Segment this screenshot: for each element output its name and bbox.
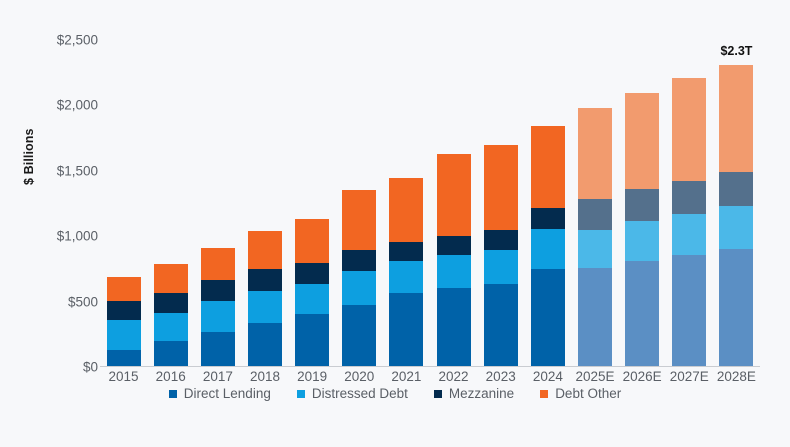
y-tick-label: $0 [20,360,98,375]
bar-segment-direct-lending[interactable] [672,255,706,366]
y-tick-label: $2,000 [20,98,98,113]
bar-segment-distressed-debt[interactable] [295,284,329,314]
bar-segment-distressed-debt[interactable] [531,229,565,269]
bar-segment-direct-lending[interactable] [625,261,659,366]
bar-2018[interactable] [248,231,282,366]
legend-label: Distressed Debt [312,386,408,401]
legend-swatch-icon [434,390,442,398]
bar-segment-mezzanine[interactable] [201,280,235,301]
bar-segment-mezzanine[interactable] [107,301,141,319]
bar-segment-mezzanine[interactable] [719,172,753,205]
y-tick-label: $2,500 [20,33,98,48]
bar-segment-debt-other[interactable] [625,93,659,190]
bar-segment-distressed-debt[interactable] [672,214,706,256]
bar-2027E[interactable] [672,78,706,366]
bar-segment-distressed-debt[interactable] [154,313,188,341]
bar-segment-direct-lending[interactable] [531,269,565,366]
legend-label: Debt Other [555,386,621,401]
bar-segment-distressed-debt[interactable] [201,301,235,332]
bar-2023[interactable] [484,145,518,366]
bar-segment-mezzanine[interactable] [437,236,471,255]
bar-segment-direct-lending[interactable] [437,288,471,366]
legend-swatch-icon [297,390,305,398]
bar-segment-direct-lending[interactable] [578,268,612,366]
bar-segment-direct-lending[interactable] [248,323,282,366]
bar-2028E[interactable]: $2.3T [719,65,753,366]
bar-segment-mezzanine[interactable] [578,199,612,230]
bar-2015[interactable] [107,277,141,366]
bar-segment-distressed-debt[interactable] [578,230,612,268]
bar-segment-debt-other[interactable] [531,126,565,208]
bar-segment-mezzanine[interactable] [672,181,706,214]
legend-label: Mezzanine [449,386,514,401]
y-tick-label: $500 [20,294,98,309]
bar-segment-distressed-debt[interactable] [437,255,471,288]
bar-segment-direct-lending[interactable] [719,249,753,366]
legend-item-debt-other[interactable]: Debt Other [540,386,621,401]
bar-segment-debt-other[interactable] [154,264,188,293]
bar-segment-debt-other[interactable] [295,219,329,263]
bar-segment-debt-other[interactable] [107,277,141,301]
bar-segment-mezzanine[interactable] [484,230,518,250]
legend-label: Direct Lending [184,386,271,401]
bar-segment-debt-other[interactable] [719,65,753,172]
legend-swatch-icon [540,390,548,398]
bar-segment-distressed-debt[interactable] [107,320,141,351]
bar-segment-debt-other[interactable] [389,178,423,242]
bar-segment-mezzanine[interactable] [625,189,659,221]
bar-2020[interactable] [342,190,376,366]
bar-segment-debt-other[interactable] [342,190,376,250]
x-tick-label-2028E: 2028E [708,369,764,384]
stacked-bar-chart: $ Billions $0$500$1,000$1,500$2,000$2,50… [0,0,790,447]
legend-item-distressed-debt[interactable]: Distressed Debt [297,386,408,401]
bar-segment-debt-other[interactable] [672,78,706,181]
bar-segment-debt-other[interactable] [437,154,471,236]
bar-segment-distressed-debt[interactable] [248,291,282,322]
bar-segment-distressed-debt[interactable] [342,271,376,304]
bar-2017[interactable] [201,248,235,366]
bar-segment-debt-other[interactable] [248,231,282,269]
bar-segment-mezzanine[interactable] [389,242,423,262]
bar-segment-direct-lending[interactable] [201,332,235,366]
legend-swatch-icon [169,390,177,398]
x-axis-line [100,366,760,367]
bar-segment-mezzanine[interactable] [248,269,282,291]
bar-segment-direct-lending[interactable] [484,284,518,366]
y-tick-label: $1,500 [20,163,98,178]
bar-segment-debt-other[interactable] [484,145,518,230]
chart-legend: Direct LendingDistressed DebtMezzanineDe… [0,386,790,401]
bar-segment-direct-lending[interactable] [342,305,376,366]
bar-2026E[interactable] [625,93,659,366]
bar-segment-direct-lending[interactable] [107,350,141,366]
y-axis-tick-labels: $0$500$1,000$1,500$2,000$2,500 [10,0,98,447]
bar-segment-distressed-debt[interactable] [625,221,659,261]
bar-segment-direct-lending[interactable] [389,293,423,366]
bar-segment-mezzanine[interactable] [342,250,376,272]
bar-segment-debt-other[interactable] [578,108,612,199]
bar-value-annotation: $2.3T [720,44,752,58]
y-tick-label: $1,000 [20,229,98,244]
bar-2019[interactable] [295,219,329,366]
bar-segment-distressed-debt[interactable] [719,206,753,249]
bar-2016[interactable] [154,264,188,366]
bar-2025E[interactable] [578,108,612,366]
bar-segment-direct-lending[interactable] [154,341,188,366]
bar-segment-mezzanine[interactable] [154,293,188,313]
bar-segment-debt-other[interactable] [201,248,235,281]
legend-item-direct-lending[interactable]: Direct Lending [169,386,271,401]
legend-item-mezzanine[interactable]: Mezzanine [434,386,514,401]
bar-segment-direct-lending[interactable] [295,314,329,366]
bar-segment-mezzanine[interactable] [531,208,565,229]
plot-area: $2.3T [100,40,760,367]
bar-2024[interactable] [531,126,565,366]
bar-segment-mezzanine[interactable] [295,263,329,285]
bar-2022[interactable] [437,154,471,367]
bar-segment-distressed-debt[interactable] [389,261,423,292]
bar-2021[interactable] [389,178,423,366]
bar-segment-distressed-debt[interactable] [484,250,518,285]
